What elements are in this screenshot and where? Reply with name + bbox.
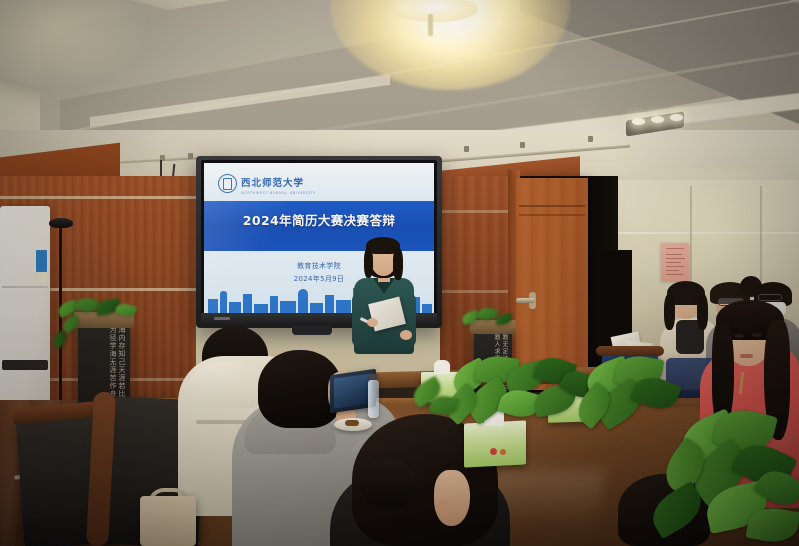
presenter-hand-left [367,318,378,327]
track-clip-2 [188,153,193,159]
attendee-hair-bun-knot [360,458,416,510]
attendee-bun-cheek [434,470,470,526]
wall-seam-h1 [600,232,799,234]
display-brand-mark [214,317,230,320]
air-conditioner-vent [2,360,48,370]
door-panel-line-2 [519,214,585,216]
display-mount [292,326,332,335]
track-clip-5 [588,136,593,142]
tissue-box-2 [464,420,526,467]
conference-chair-1-frame [596,346,664,356]
recessed-spotlight-3 [670,114,683,121]
presenter-hair-side-right [393,248,403,280]
recessed-spotlight-2 [651,116,664,123]
lamp-stem [428,14,433,36]
presenter-hand-right [400,330,412,340]
photo-scene: 西北师范大学 NORTHWEST NORMAL UNIVERSITY 2024年… [0,0,799,546]
snack-on-plate [345,420,359,426]
tissue-sheet-1 [434,360,450,374]
attendee-cream-jacket-hair-left [664,294,675,330]
tissue-box-logo-2 [500,449,506,455]
attendee-coral-mouth [740,354,753,358]
attendee-coral-eye-left [734,334,744,338]
recessed-spotlight-1 [632,118,645,125]
attendee-masked-glasses-icon [758,294,782,301]
attendee-cream-jacket-hair-right [697,294,708,330]
stele-right-cap [470,320,516,334]
attendee-bun-ear [438,500,449,516]
panel-rail-1 [0,196,196,199]
door-panel-line-1 [519,205,585,207]
air-conditioner-seam [2,286,48,288]
door-handle[interactable] [516,298,535,303]
air-conditioner-label-2 [36,272,47,282]
track-clip-4 [520,142,525,148]
water-bottle [368,380,379,418]
tote-bag [140,496,196,546]
wall-poster [661,243,689,281]
track-clip-3 [464,146,469,152]
air-conditioner-label [36,250,47,272]
presenter-hair-side-left [364,248,373,278]
tissue-box-logo-1 [490,448,497,455]
attendee-coral-eye-right [752,333,762,337]
